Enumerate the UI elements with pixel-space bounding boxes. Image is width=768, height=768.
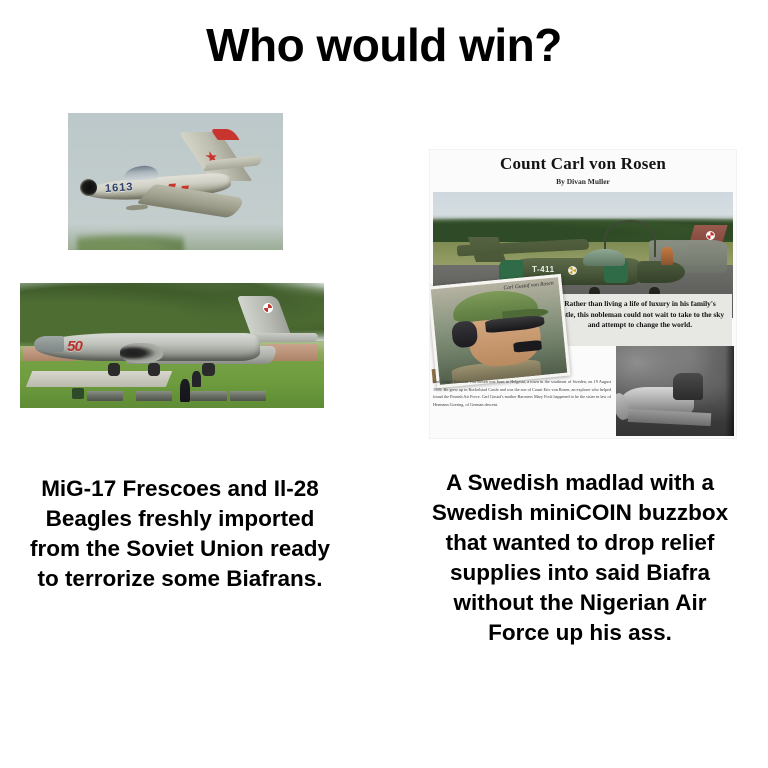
caption-right: A Swedish madlad with a Swedish miniCOIN… xyxy=(424,468,736,648)
treeline xyxy=(77,232,185,250)
article-body-text: Carl Gustaf Ericsson von Rosen was born … xyxy=(433,378,611,430)
trash-bin xyxy=(72,388,84,399)
aircraft-serial-number: T-411 xyxy=(532,265,555,274)
aircraft-nose-number: 50 xyxy=(67,338,82,355)
park-bench xyxy=(190,391,226,401)
park-bench xyxy=(87,391,123,401)
visitor-figure xyxy=(192,371,201,387)
pilot-portrait-photo: Carl Gustaf von Rosen xyxy=(430,274,571,388)
park-bench xyxy=(230,391,266,401)
landing-gear xyxy=(148,363,160,376)
landing-gear xyxy=(202,363,214,376)
park-bench xyxy=(136,391,172,401)
ground-crew-figure xyxy=(661,247,673,265)
article-byline: By Divan Muller xyxy=(430,177,736,186)
visitor-figure xyxy=(180,379,191,402)
photo-il28-on-display: 50 xyxy=(20,283,324,408)
gear-pod xyxy=(126,204,148,211)
caption-left: MiG-17 Frescoes and Il-28 Beagles freshl… xyxy=(18,474,342,594)
archive-bw-photo xyxy=(616,346,734,436)
photo-shadow-edge xyxy=(725,346,734,436)
background-jet-roundel-icon xyxy=(706,231,715,240)
article-pull-quote: Rather than living a life of luxury in h… xyxy=(548,294,732,346)
aircraft-tail-number: 1613 xyxy=(104,181,133,195)
page-title: Who would win? xyxy=(0,18,768,72)
article-headline: Count Carl von Rosen xyxy=(430,154,736,174)
landing-gear xyxy=(108,363,120,376)
photo-magazine-article-collage: Count Carl von Rosen By Divan Muller T-4… xyxy=(430,150,736,438)
aircraft-cockpit xyxy=(673,373,704,400)
glazed-nose xyxy=(34,336,64,352)
aircraft-canopy xyxy=(583,249,625,267)
engine-nacelle xyxy=(120,343,163,363)
photo-mig17-in-flight: ★ 1613 xyxy=(68,113,283,250)
